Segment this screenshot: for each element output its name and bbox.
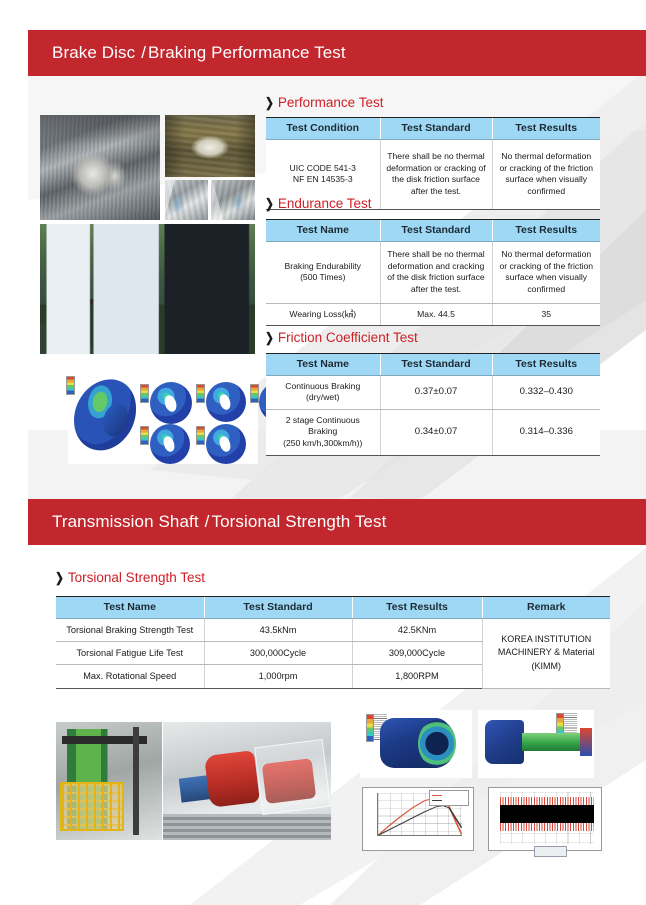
column-header-test-results: Test Results: [352, 597, 482, 619]
cell-test-standard: 43.5kNm: [204, 618, 352, 641]
subheader-label: Performance Test: [278, 95, 384, 110]
cell-test-name: Torsional Fatigue Life Test: [56, 642, 204, 665]
brake-caliper-on-bogie-photo: [40, 115, 160, 220]
table-row: Torsional Braking Strength Test 43.5kNm …: [56, 618, 610, 641]
cell-test-results: 309,000Cycle: [352, 642, 482, 665]
subheader-torsional-strength-test: ❯ Torsional Strength Test: [54, 570, 205, 585]
cell-test-results: No thermal deformation or cracking of th…: [492, 139, 600, 209]
shaft-end-cap: [580, 728, 592, 757]
safety-guard-panel: [255, 739, 331, 815]
cell-test-standard: 0.37±0.07: [380, 375, 492, 409]
subheader-label: Endurance Test: [278, 196, 372, 211]
cell-test-standard: 0.34±0.07: [380, 409, 492, 455]
table-row: 2 stage Continuous Braking (250 km/h,300…: [266, 409, 600, 455]
cell-test-results: 0.332–0.430: [492, 375, 600, 409]
cell-test-results: 35: [492, 303, 600, 326]
keyboard: [70, 329, 152, 346]
brake-disc-shaft-assembly-photo: [165, 115, 255, 177]
section-test-name: Braking Performance Test: [148, 43, 346, 62]
cell-test-results: 0.314–0.336: [492, 409, 600, 455]
column-header-test-standard: Test Standard: [380, 354, 492, 376]
fea-thumb-bore: [218, 393, 233, 411]
shaft-tube: [522, 733, 582, 751]
photo-surface: [211, 180, 255, 220]
column-header-test-name: Test Name: [266, 354, 380, 376]
section-test-name: Torsional Strength Test: [212, 512, 387, 531]
plot-legend: [429, 790, 468, 806]
fea-legend-4: [140, 426, 149, 445]
section-header-transmission-shaft: Transmission Shaft/Torsional Strength Te…: [28, 499, 646, 545]
table-header-row: Test Name Test Standard Test Results: [266, 354, 600, 376]
column-header-test-standard: Test Standard: [380, 220, 492, 242]
fea-legend-1: [140, 384, 149, 403]
column-header-test-results: Test Results: [492, 220, 600, 242]
subheader-label: Torsional Strength Test: [68, 570, 205, 585]
section-product-name: Transmission Shaft: [52, 512, 199, 531]
subheader-endurance-test: ❯ Endurance Test: [264, 196, 371, 211]
universal-joint-fea: [360, 710, 472, 778]
safety-cage: [60, 782, 123, 831]
section-header-brake-disc: Brake Disc/Braking Performance Test: [28, 30, 646, 76]
chevron-right-icon: ❯: [55, 571, 64, 584]
red-gearbox: [204, 750, 260, 808]
operator-silhouette: [40, 299, 113, 354]
column-header-test-results: Test Results: [492, 118, 600, 140]
brake-disc-fea-group: [68, 368, 258, 464]
cell-test-results: 42.5KNm: [352, 618, 482, 641]
section-title-transmission-shaft: Transmission Shaft/Torsional Strength Te…: [28, 512, 386, 532]
brake-disc-fea-thumb-1: [150, 382, 192, 424]
table-header-row: Test Name Test Standard Test Results Rem…: [56, 597, 610, 619]
legend-swatch-torque: [432, 795, 442, 796]
torsion-press-rig-photo: [56, 722, 162, 840]
cell-test-results: No thermal deformation or cracking of th…: [492, 241, 600, 303]
brake-disc-fea-thumb-4: [150, 424, 190, 464]
brake-disc-fea-main: [74, 380, 136, 450]
chevron-right-icon: ❯: [265, 331, 274, 344]
fea-thumb-bore: [163, 393, 179, 412]
table-header-row: Test Name Test Standard Test Results: [266, 220, 600, 242]
brake-rig-detail-right-photo: [211, 180, 255, 220]
fea-thumb-bore: [218, 435, 233, 453]
brake-disc-fea-thumb-2: [206, 382, 246, 422]
subheader-performance-test: ❯ Performance Test: [264, 95, 383, 110]
friction-coefficient-test-table: Test Name Test Standard Test Results Con…: [266, 353, 600, 456]
subheader-friction-coefficient-test: ❯ Friction Coefficient Test: [264, 330, 418, 345]
cell-test-name: Braking Endurability (500 Times): [266, 241, 380, 303]
column-header-test-standard: Test Standard: [204, 597, 352, 619]
cell-test-standard: 300,000Cycle: [204, 642, 352, 665]
fea-thumb-bore: [162, 435, 177, 453]
torque-angle-plot: [362, 787, 474, 851]
column-header-remark: Remark: [482, 597, 610, 619]
joint-flange-ring: [418, 720, 456, 768]
table-header-row: Test Condition Test Standard Test Result…: [266, 118, 600, 140]
shaft-yoke: [485, 720, 524, 765]
monitor-center-screen: [94, 255, 159, 301]
monitor-left-screen: [48, 255, 89, 302]
subheader-label: Friction Coefficient Test: [278, 330, 418, 345]
fea-legend-5: [196, 426, 205, 445]
document-page: Brake Disc/Braking Performance Test: [0, 0, 646, 905]
column-header-test-name: Test Name: [266, 220, 380, 242]
legend-swatch-angle: [432, 800, 442, 801]
fatigue-cycle-plot: [488, 787, 602, 851]
cell-test-standard: There shall be no thermal deformation or…: [380, 139, 492, 209]
press-column: [133, 727, 138, 836]
lower-envelope-band: [500, 823, 594, 831]
table-row: Wearing Loss(㎢) Max. 44.5 35: [266, 303, 600, 326]
section-title-brake-disc: Brake Disc/Braking Performance Test: [28, 43, 346, 63]
series-angle-line: [378, 806, 462, 836]
cell-test-name: Wearing Loss(㎢): [266, 303, 380, 326]
brake-rig-detail-left-photo: [165, 180, 208, 220]
photo-surface: [40, 115, 160, 220]
cell-test-standard: 1,000rpm: [204, 665, 352, 688]
fea-legend-2: [196, 384, 205, 403]
chevron-right-icon: ❯: [265, 197, 274, 210]
cell-test-name: Continuous Braking (dry/wet): [266, 375, 380, 409]
section-title-separator: /: [135, 43, 148, 62]
drive-shaft-fea: [478, 710, 594, 778]
fea-legend-3: [250, 384, 259, 403]
photo-surface: [165, 115, 255, 177]
brake-disc-fea-thumb-5: [206, 424, 246, 464]
table-row: Continuous Braking (dry/wet) 0.37±0.07 0…: [266, 375, 600, 409]
chevron-right-icon: ❯: [265, 96, 274, 109]
test-control-room-photo: [40, 224, 255, 354]
section-title-separator: /: [199, 512, 212, 531]
cell-test-name: 2 stage Continuous Braking (250 km/h,300…: [266, 409, 380, 455]
cell-remark: KOREA INSTITUTION MACHINERY & Material (…: [482, 618, 610, 688]
cell-test-standard: There shall be no thermal deformation an…: [380, 241, 492, 303]
core-oscillation-band: [500, 805, 594, 822]
column-header-test-results: Test Results: [492, 354, 600, 376]
desk-phone: [204, 310, 247, 351]
photo-surface: [165, 180, 208, 220]
plot-legend-tag: [534, 846, 567, 857]
column-header-test-standard: Test Standard: [380, 118, 492, 140]
table-row: Braking Endurability (500 Times) There s…: [266, 241, 600, 303]
shaft-test-bench-photo: [163, 722, 331, 840]
cell-test-name: Torsional Braking Strength Test: [56, 618, 204, 641]
cell-test-standard: Max. 44.5: [380, 303, 492, 326]
test-bed-plate: [163, 814, 331, 840]
section-product-name: Brake Disc: [52, 43, 135, 62]
cell-test-results: 1,800RPM: [352, 665, 482, 688]
monitor-right-camera-view: [182, 263, 229, 307]
upper-envelope-band: [500, 797, 594, 805]
column-header-test-condition: Test Condition: [266, 118, 380, 140]
column-header-test-name: Test Name: [56, 597, 204, 619]
endurance-test-table: Test Name Test Standard Test Results Bra…: [266, 219, 600, 326]
cell-test-name: Max. Rotational Speed: [56, 665, 204, 688]
torsional-strength-test-table: Test Name Test Standard Test Results Rem…: [56, 596, 610, 689]
